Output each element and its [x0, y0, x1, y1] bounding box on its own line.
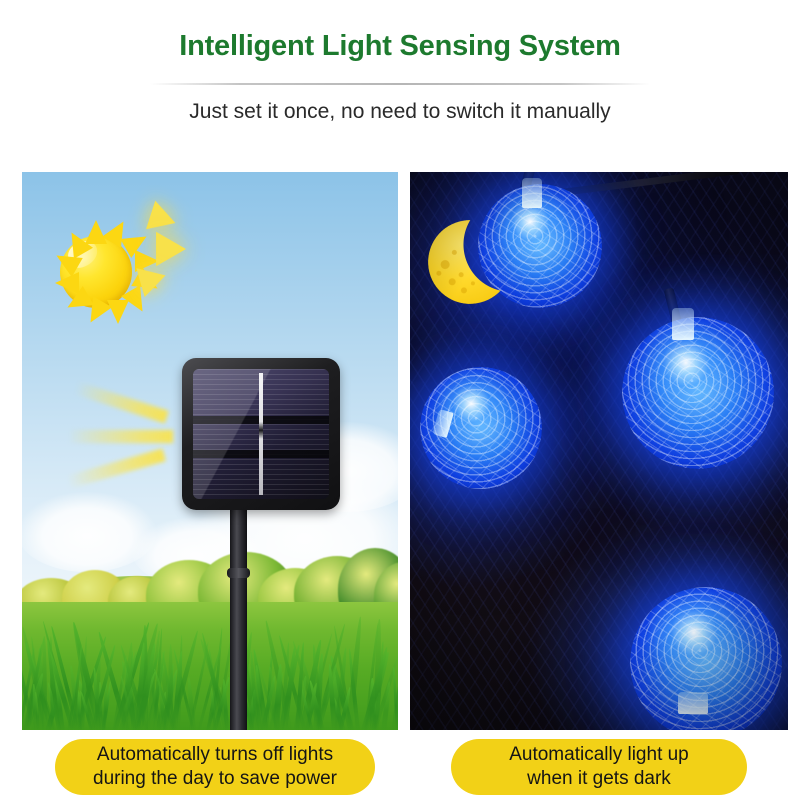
grass-field — [22, 602, 398, 730]
page-title: Intelligent Light Sensing System — [0, 30, 800, 63]
solar-panel — [182, 358, 340, 510]
caption-day-line2: during the day to save power — [93, 767, 337, 791]
stake-joint — [227, 568, 250, 578]
ground-stake — [230, 502, 247, 730]
header: Intelligent Light Sensing System Just se… — [0, 0, 800, 150]
solar-busbar — [259, 373, 263, 495]
caption-pill-night: Automatically light up when it gets dark — [451, 739, 747, 795]
sunbeam-arrow-icon — [68, 430, 173, 443]
sun-ray — [55, 272, 79, 294]
caption-pill-day: Automatically turns off lights during th… — [55, 739, 375, 795]
caption-day-line1: Automatically turns off lights — [93, 743, 337, 767]
nighttime-photo-panel — [410, 172, 788, 730]
solar-panel-cells — [193, 369, 329, 499]
sun-icon — [44, 220, 148, 324]
vignette-overlay — [410, 172, 788, 730]
caption-night-line2: when it gets dark — [509, 767, 689, 791]
title-divider — [150, 83, 650, 85]
caption-night-line1: Automatically light up — [509, 743, 689, 767]
daytime-photo-panel — [22, 172, 398, 730]
page-subtitle: Just set it once, no need to switch it m… — [0, 100, 800, 124]
sun-ray — [107, 300, 129, 324]
